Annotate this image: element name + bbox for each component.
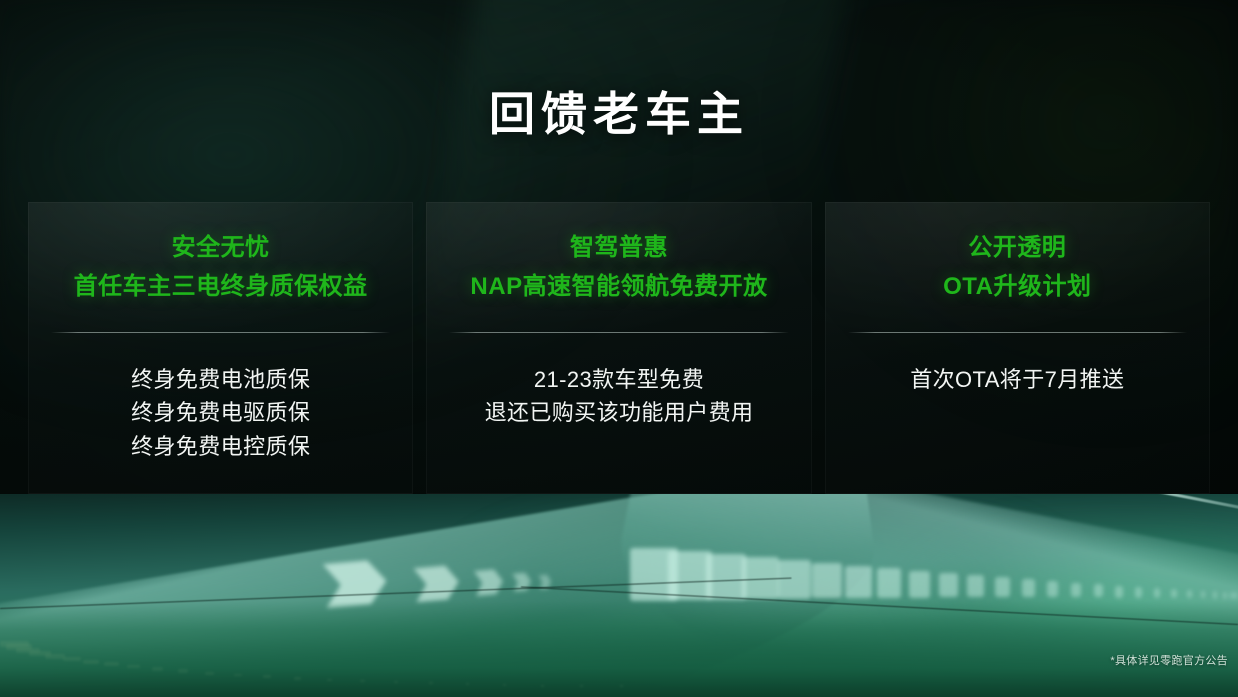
card-body-line: 终身免费电驱质保: [131, 396, 310, 429]
benefit-card-ota: 公开透明 OTA升级计划 首次OTA将于7月推送: [825, 202, 1210, 494]
card-body-line: 终身免费电控质保: [131, 430, 310, 463]
benefit-card-nap: 智驾普惠 NAP高速智能领航免费开放 21-23款车型免费 退还已购买该功能用户…: [426, 202, 811, 494]
presentation-slide: 回馈老车主 安全无忧 首任车主三电终身质保权益 终身免费电池质保 终身免费电驱质…: [0, 0, 1238, 697]
card-body: 首次OTA将于7月推送: [910, 363, 1124, 396]
card-body-line: 退还已购买该功能用户费用: [485, 396, 754, 429]
card-divider: [449, 332, 788, 333]
tunnel-road-image: [0, 494, 1238, 697]
card-body-line: 首次OTA将于7月推送: [910, 363, 1124, 396]
card-body: 21-23款车型免费 退还已购买该功能用户费用: [485, 363, 754, 430]
card-heading-line-1: 智驾普惠: [570, 234, 668, 261]
page-title: 回馈老车主: [0, 88, 1238, 141]
card-heading-line-1: 安全无忧: [172, 234, 270, 261]
card-heading-line-1: 公开透明: [968, 234, 1066, 261]
card-heading: 公开透明 OTA升级计划: [943, 229, 1091, 307]
card-heading: 智驾普惠 NAP高速智能领航免费开放: [470, 229, 767, 307]
card-body: 终身免费电池质保 终身免费电驱质保 终身免费电控质保: [131, 363, 310, 463]
card-heading-line-2: NAP高速智能领航免费开放: [470, 273, 767, 300]
footnote-disclaimer: *具体详见零跑官方公告: [1110, 652, 1228, 668]
card-heading-line-2: 首任车主三电终身质保权益: [74, 273, 368, 300]
card-body-line: 终身免费电池质保: [131, 363, 310, 396]
benefit-cards-row: 安全无忧 首任车主三电终身质保权益 终身免费电池质保 终身免费电驱质保 终身免费…: [28, 202, 1210, 494]
card-heading-line-2: OTA升级计划: [943, 273, 1091, 300]
tunnel-wall-lights: [545, 546, 1238, 604]
card-heading: 安全无忧 首任车主三电终身质保权益: [74, 229, 368, 307]
road-surface: [0, 601, 1238, 697]
card-divider: [848, 332, 1187, 333]
benefit-card-warranty: 安全无忧 首任车主三电终身质保权益 终身免费电池质保 终身免费电驱质保 终身免费…: [28, 202, 413, 494]
card-divider: [51, 332, 390, 333]
card-body-line: 21-23款车型免费: [485, 363, 754, 396]
